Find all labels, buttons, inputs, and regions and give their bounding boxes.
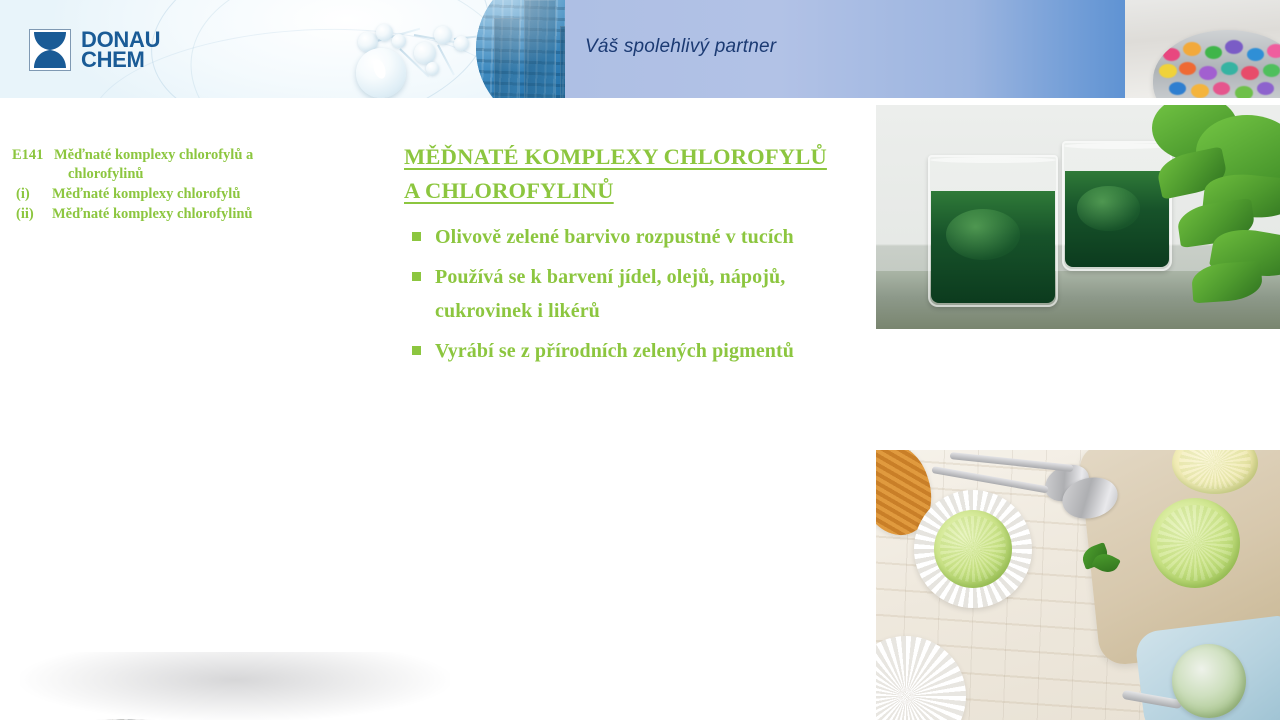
tagline-text: Váš spolehlivý partner xyxy=(585,36,776,58)
list-item-label: Vyrábí se z přírodních zelených pigmentů xyxy=(435,334,884,368)
enumber-variant-key: (ii) xyxy=(12,205,52,224)
enumber-variant-row: (ii) Měďnaté komplexy chlorofylinů xyxy=(12,205,402,224)
glass-front xyxy=(928,155,1058,307)
enumber-variant-key: (i) xyxy=(12,185,52,204)
enumber-variant-label: Měďnaté komplexy chlorofylů xyxy=(52,185,402,204)
logo-line2: CHEM xyxy=(81,50,160,70)
main-content: MĚĎNATÉ KOMPLEXY CHLOROFYLŮ A CHLOROFYLI… xyxy=(404,140,884,374)
enumber-name-line1: Měďnaté komplexy chlorofylů a xyxy=(54,146,402,165)
green-drink-photo xyxy=(876,105,1280,329)
candy-bowl xyxy=(1153,30,1280,98)
monstera-leaf xyxy=(1100,105,1280,314)
enumber-variant-row: (i) Měďnaté komplexy chlorofylů xyxy=(12,185,402,204)
list-item: Vyrábí se z přírodních zelených pigmentů xyxy=(404,334,884,368)
list-item-label: Olivově zelené barvivo rozpustné v tucíc… xyxy=(435,220,884,254)
list-item: Používá se k barvení jídel, olejů, nápoj… xyxy=(404,260,884,328)
page-title-line1: MĚĎNATÉ KOMPLEXY CHLOROFYLŮ xyxy=(404,144,827,169)
page-title: MĚĎNATÉ KOMPLEXY CHLOROFYLŮ A CHLOROFYLI… xyxy=(404,140,884,208)
ice-cream-scooper xyxy=(1172,644,1246,718)
square-bullet-icon xyxy=(412,272,421,281)
enumber-variant-label: Měďnaté komplexy chlorofylinů xyxy=(52,205,402,224)
tagline-panel: Váš spolehlivý partner xyxy=(565,0,1125,98)
ice-cream-scoop xyxy=(1150,498,1240,588)
fan-blades xyxy=(0,390,510,720)
enumber-code: E141 xyxy=(12,146,54,165)
header-banner: Váš spolehlivý partner xyxy=(0,0,1280,98)
logo[interactable]: DONAU CHEM xyxy=(28,28,160,72)
list-item: Olivově zelené barvivo rozpustné v tucíc… xyxy=(404,220,884,254)
square-bullet-icon xyxy=(412,346,421,355)
enumber-block: E141 Měďnaté komplexy chlorofylů a chlor… xyxy=(12,146,402,224)
enumber-primary-row: E141 Měďnaté komplexy chlorofylů a xyxy=(12,146,402,165)
hourglass-mark-icon xyxy=(28,28,72,72)
ice-cream-photo xyxy=(876,450,1280,720)
color-fan-deck-photo xyxy=(0,390,510,720)
page-title-line2: A CHLOROFYLINŮ xyxy=(404,178,614,203)
slide: Váš spolehlivý partner xyxy=(0,0,1280,720)
list-item-label: Používá se k barvení jídel, olejů, nápoj… xyxy=(435,260,884,328)
ice-cream-scoop xyxy=(934,510,1012,588)
enumber-name-line2: chlorofylinů xyxy=(12,165,402,184)
candy-bowl-photo xyxy=(1125,0,1280,98)
square-bullet-icon xyxy=(412,232,421,241)
bullet-list: Olivově zelené barvivo rozpustné v tucíc… xyxy=(404,220,884,368)
molecule-sphere xyxy=(356,48,406,98)
